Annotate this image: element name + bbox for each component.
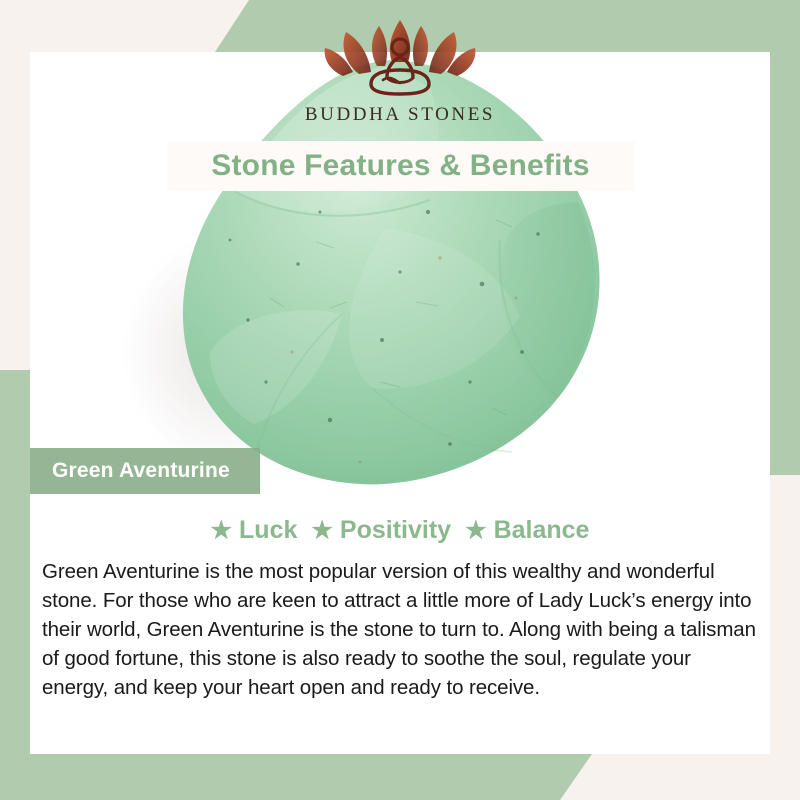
benefits-row: ★ Luck ★ Positivity ★ Balance (38, 516, 762, 545)
benefit-label-luck: Luck (239, 516, 297, 545)
page-title: Stone Features & Benefits (211, 149, 589, 183)
description-panel: ★ Luck ★ Positivity ★ Balance Green Aven… (30, 494, 770, 754)
star-icon: ★ (311, 519, 333, 543)
decor-frame-bottom-left (0, 754, 592, 800)
star-icon: ★ (465, 519, 487, 543)
lotus-meditation-icon (315, 14, 485, 100)
benefit-label-balance: Balance (494, 516, 590, 545)
benefit-item-positivity: ★ Positivity (311, 516, 451, 545)
poster-root: BUDDHA STONES (0, 0, 800, 800)
benefit-item-balance: ★ Balance (465, 516, 589, 545)
star-icon: ★ (211, 519, 233, 543)
stone-name-label: Green Aventurine (52, 459, 230, 483)
title-banner: Stone Features & Benefits (167, 141, 634, 191)
decor-frame-left-edge (0, 370, 30, 800)
brand-wordmark: BUDDHA STONES (305, 104, 495, 126)
brand-header: BUDDHA STONES (0, 0, 800, 140)
benefit-item-luck: ★ Luck (211, 516, 298, 545)
stone-name-badge: Green Aventurine (30, 448, 260, 494)
description-text: Green Aventurine is the most popular ver… (38, 557, 762, 703)
benefit-label-positivity: Positivity (340, 516, 451, 545)
